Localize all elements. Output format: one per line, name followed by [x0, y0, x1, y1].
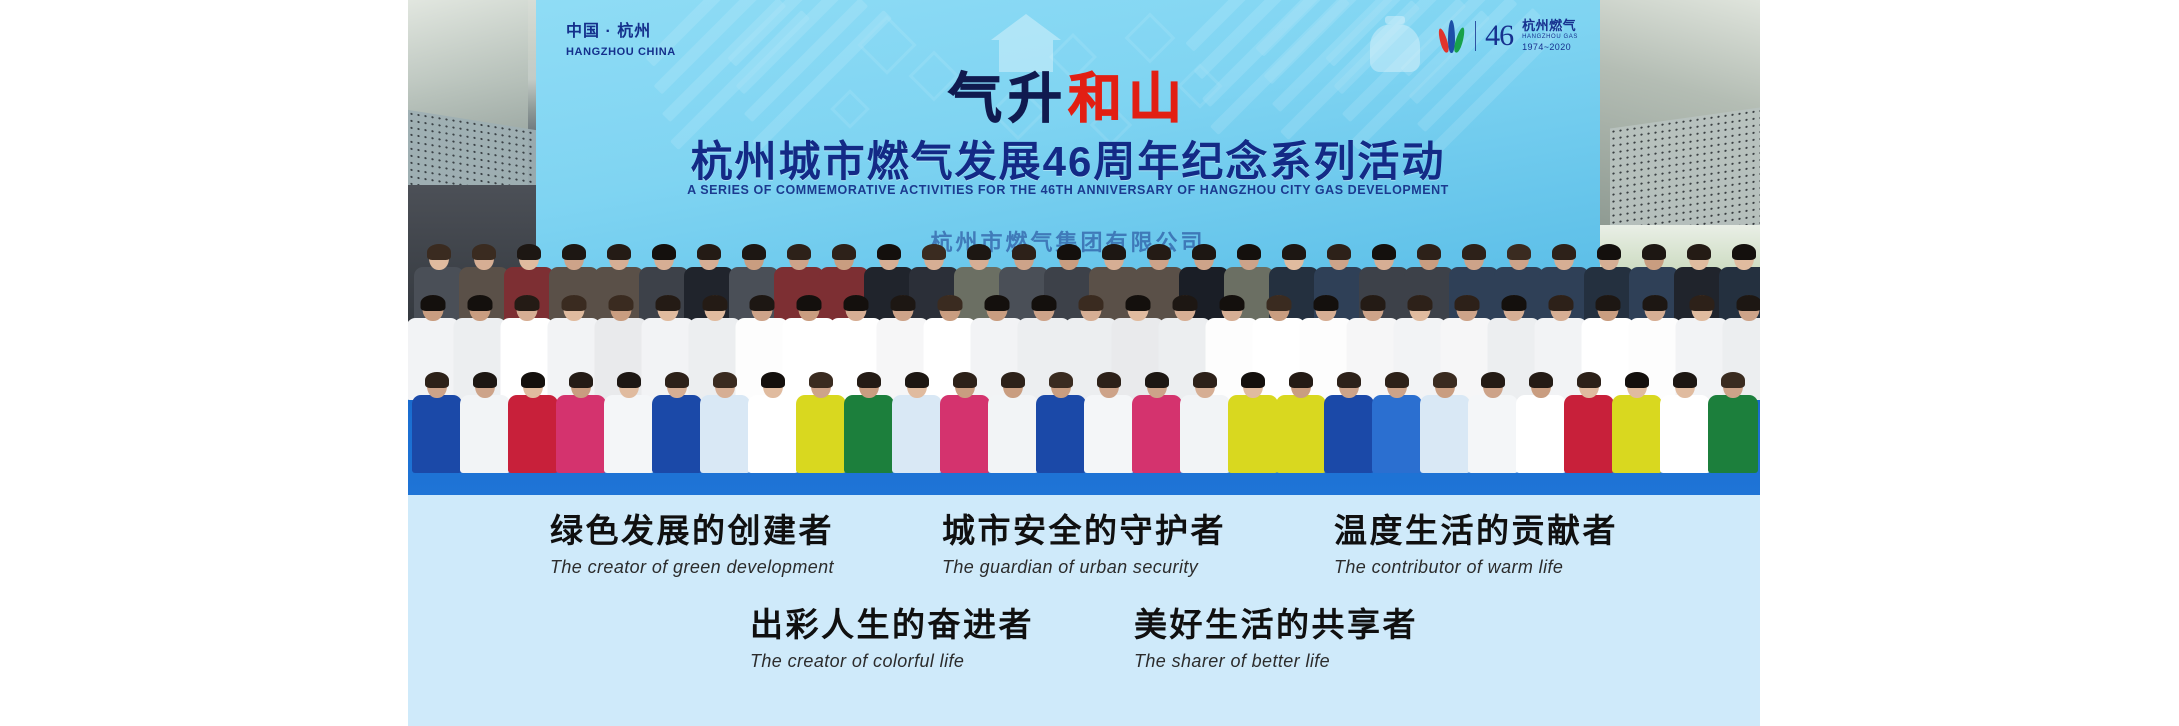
- attendee: [1180, 364, 1230, 473]
- attendee: [988, 364, 1038, 473]
- crowd-of-attendees: [408, 165, 1760, 495]
- slogan-item: 绿色发展的创建者 The creator of green developmen…: [550, 513, 834, 578]
- attendee: [748, 364, 798, 473]
- slogan-item: 温度生活的贡献者 The contributor of warm life: [1334, 513, 1618, 578]
- attendee: [1132, 364, 1182, 473]
- event-group-photo: 中国 · 杭州 HANGZHOU CHINA 46 杭州燃气 HANGZHOU …: [408, 0, 1760, 495]
- attendee: [1036, 364, 1086, 473]
- calligraphy-red: 和山: [1068, 67, 1188, 130]
- location-label: 中国 · 杭州 HANGZHOU CHINA: [566, 22, 676, 58]
- anniversary-logo: 46 杭州燃气 HANGZHOU GAS 1974~2020: [1440, 18, 1578, 53]
- attendee: [940, 364, 990, 473]
- slogan-en: The creator of green development: [550, 557, 834, 578]
- brand-en: HANGZHOU GAS: [1522, 34, 1578, 42]
- brand-years: 1974~2020: [1522, 42, 1578, 53]
- slogan-en: The sharer of better life: [1134, 651, 1418, 672]
- slogan-section: 绿色发展的创建者 The creator of green developmen…: [408, 495, 1760, 726]
- slogan-row-2: 出彩人生的奋进者 The creator of colorful life 美好…: [408, 607, 1760, 672]
- attendee: [652, 364, 702, 473]
- slogan-item: 城市安全的守护者 The guardian of urban security: [942, 513, 1226, 578]
- attendee: [412, 364, 462, 473]
- attendee: [460, 364, 510, 473]
- attendee: [844, 364, 894, 473]
- location-cn: 中国 · 杭州: [566, 22, 676, 43]
- anniversary-number: 46: [1485, 21, 1513, 51]
- slogan-cn: 温度生活的贡献者: [1334, 513, 1618, 550]
- attendee: [1468, 364, 1518, 473]
- attendee: [1324, 364, 1374, 473]
- flame-icon: [1440, 19, 1466, 53]
- logo-divider: [1475, 21, 1476, 51]
- slogan-en: The guardian of urban security: [942, 557, 1226, 578]
- slogan-item: 出彩人生的奋进者 The creator of colorful life: [750, 607, 1034, 672]
- attendee: [700, 364, 750, 473]
- attendee: [508, 364, 558, 473]
- calligraphy-dark: 气升: [948, 67, 1068, 130]
- slogan-row-1: 绿色发展的创建者 The creator of green developmen…: [408, 513, 1760, 578]
- attendee: [1516, 364, 1566, 473]
- attendee: [1084, 364, 1134, 473]
- brand-block: 杭州燃气 HANGZHOU GAS 1974~2020: [1522, 18, 1578, 53]
- attendee: [1660, 364, 1710, 473]
- slogan-cn: 出彩人生的奋进者: [750, 607, 1034, 644]
- attendee: [1276, 364, 1326, 473]
- calligraphy-mark: 气升和山: [536, 54, 1600, 133]
- attendee: [1708, 364, 1758, 473]
- attendee: [892, 364, 942, 473]
- attendee: [1372, 364, 1422, 473]
- attendee: [1612, 364, 1662, 473]
- brand-cn: 杭州燃气: [1522, 18, 1578, 34]
- attendee: [1420, 364, 1470, 473]
- attendee: [604, 364, 654, 473]
- attendee: [556, 364, 606, 473]
- slogan-cn: 美好生活的共享者: [1134, 607, 1418, 644]
- slogan-cn: 绿色发展的创建者: [550, 513, 834, 550]
- slogan-cn: 城市安全的守护者: [942, 513, 1226, 550]
- attendee: [796, 364, 846, 473]
- slogan-en: The contributor of warm life: [1334, 557, 1618, 578]
- poster-content-column: 中国 · 杭州 HANGZHOU CHINA 46 杭州燃气 HANGZHOU …: [408, 0, 1760, 726]
- slogan-item: 美好生活的共享者 The sharer of better life: [1134, 607, 1418, 672]
- attendee: [1564, 364, 1614, 473]
- attendee: [1228, 364, 1278, 473]
- slogan-en: The creator of colorful life: [750, 651, 1034, 672]
- poster-page: 中国 · 杭州 HANGZHOU CHINA 46 杭州燃气 HANGZHOU …: [0, 0, 2179, 726]
